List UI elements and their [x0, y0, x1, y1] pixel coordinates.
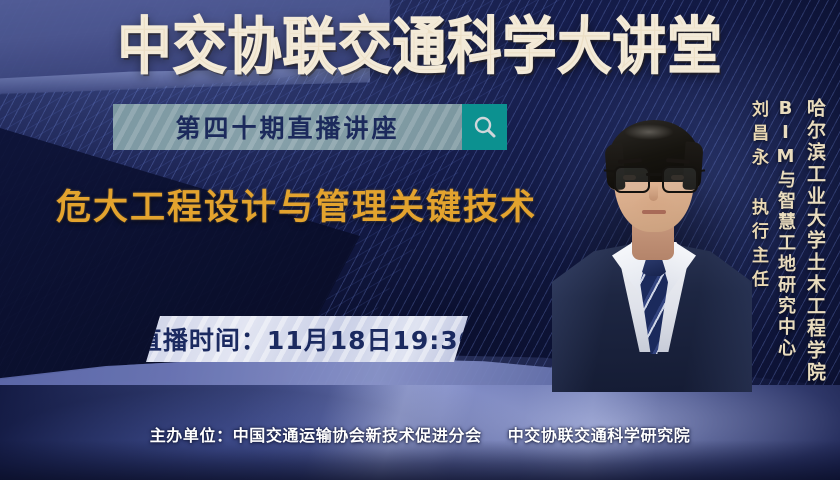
portrait-mouth [642, 210, 666, 214]
speaker-organization: 哈尔滨工业大学土木工程学院 [802, 98, 829, 384]
speaker-role: 执行主任 [746, 198, 771, 294]
footer-organizer: 主办单位：中国交通运输协会新技术促进分会 [150, 426, 482, 445]
portrait-necktie-knot [642, 258, 666, 276]
lecture-title: 危大工程设计与管理关键技术 [56, 186, 537, 230]
live-time-banner: 直播时间：11月18日19:30 [146, 316, 468, 362]
portrait-hair-gloss [624, 124, 674, 140]
speaker-research-center: BIM与智慧工地研究中心 [772, 98, 798, 359]
background-bottom-fade [0, 440, 840, 480]
search-icon-box[interactable] [462, 104, 507, 150]
portrait-nose [649, 185, 658, 201]
search-icon [472, 114, 498, 140]
episode-bar: 第四十期直播讲座 [113, 104, 462, 150]
live-time-label: 直播时间：11月18日19:30 [146, 321, 468, 357]
speaker-portrait [552, 92, 752, 392]
poster-canvas: 中交协联交通科学大讲堂 第四十期直播讲座 危大工程设计与管理关键技术 直播时间：… [0, 0, 840, 480]
episode-banner: 第四十期直播讲座 [113, 104, 507, 150]
portrait-glasses-bridge [646, 173, 662, 176]
portrait-glasses-lens-right [662, 166, 698, 193]
portrait-glasses-lens-left [614, 166, 650, 193]
speaker-name: 刘昌永 [746, 100, 771, 172]
footer: 主办单位：中国交通运输协会新技术促进分会中交协联交通科学研究院 [0, 422, 840, 446]
main-title: 中交协联交通科学大讲堂 [0, 14, 840, 80]
episode-label: 第四十期直播讲座 [175, 109, 399, 145]
footer-institute: 中交协联交通科学研究院 [508, 426, 691, 445]
